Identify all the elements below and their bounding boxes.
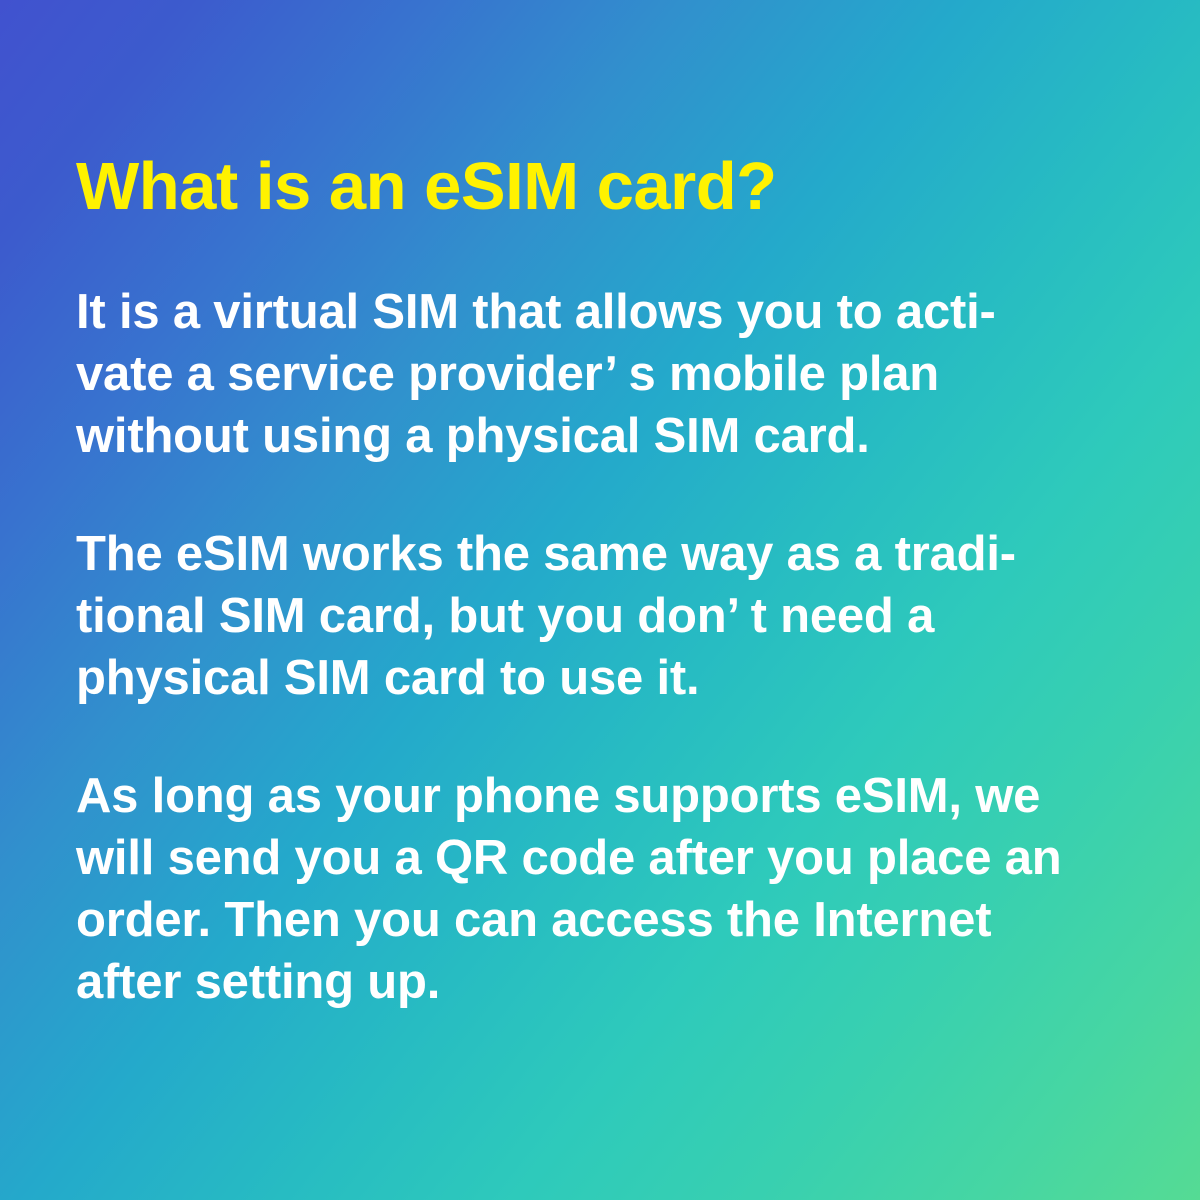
paragraph-qr-delivery: As long as your phone supports eSIM, we … — [76, 765, 1066, 1013]
paragraph-line: As long as your phone supports eSIM, we — [76, 765, 1066, 827]
paragraph-line: physical SIM card to use it. — [76, 647, 1066, 709]
esim-info-poster: What is an eSIM card? It is a virtual SI… — [0, 0, 1200, 1200]
paragraph-line: It is a virtual SIM that allows you to a… — [76, 281, 1066, 343]
paragraph-line: vate a service provider’ s mobile plan — [76, 343, 1066, 405]
paragraph-line: without using a physical SIM card. — [76, 405, 1066, 467]
paragraph-line: order. Then you can access the Internet — [76, 889, 1066, 951]
body-copy: It is a virtual SIM that allows you to a… — [76, 281, 1066, 1013]
page-title: What is an eSIM card? — [76, 146, 777, 228]
paragraph-definition: It is a virtual SIM that allows you to a… — [76, 281, 1066, 467]
paragraph-line: after setting up. — [76, 951, 1066, 1013]
paragraph-line: The eSIM works the same way as a tradi- — [76, 523, 1066, 585]
paragraph-line: will send you a QR code after you place … — [76, 827, 1066, 889]
paragraph-how-it-works: The eSIM works the same way as a tradi- … — [76, 523, 1066, 709]
paragraph-line: tional SIM card, but you don’ t need a — [76, 585, 1066, 647]
